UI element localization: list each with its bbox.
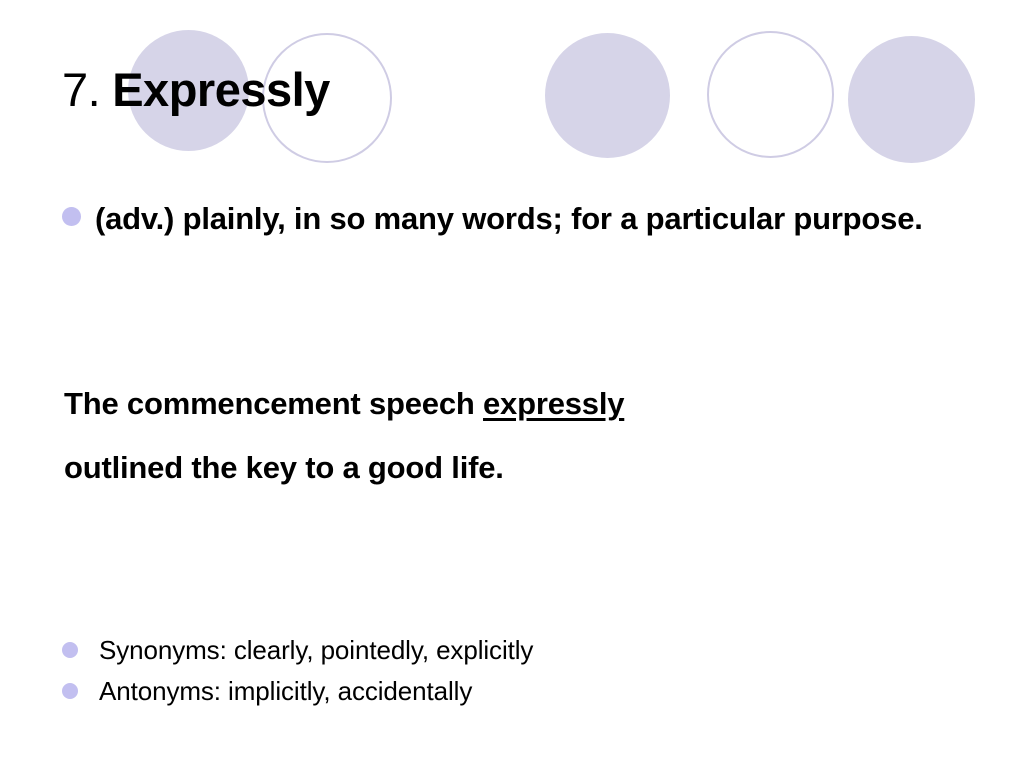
decor-circle-5 <box>848 36 975 163</box>
sentence-trailing-text: outlined the key to a good life. <box>64 450 504 485</box>
definition-bullet-row: (adv.) plainly, in so many words; for a … <box>62 193 942 244</box>
antonyms-row: Antonyms: implicitly, accidentally <box>62 675 942 707</box>
synonyms-row: Synonyms: clearly, pointedly, explicitly <box>62 634 942 666</box>
bullet-dot-icon <box>62 642 78 658</box>
antonyms-text: Antonyms: implicitly, accidentally <box>99 675 472 707</box>
bullet-dot-icon <box>62 207 81 226</box>
sentence-leading-text: The commencement speech <box>64 386 483 421</box>
synonyms-text: Synonyms: clearly, pointedly, explicitly <box>99 634 533 666</box>
page-title: 7.Expressly <box>62 62 330 117</box>
example-sentence-section: The commencement speech expressly outlin… <box>64 372 964 500</box>
decor-circle-4 <box>707 31 834 158</box>
title-number: 7. <box>62 63 100 116</box>
bullet-dot-icon <box>62 683 78 699</box>
example-sentence-line-1: The commencement speech expressly <box>64 372 964 436</box>
definition-text: (adv.) plainly, in so many words; for a … <box>95 193 923 244</box>
decor-circle-3 <box>545 33 670 158</box>
target-word-underlined: expressly <box>483 386 624 421</box>
definition-section: (adv.) plainly, in so many words; for a … <box>62 193 942 244</box>
title-word: Expressly <box>112 63 330 116</box>
relations-section: Synonyms: clearly, pointedly, explicitly… <box>62 634 942 716</box>
vocabulary-slide: 7.Expressly (adv.) plainly, in so many w… <box>0 0 1024 768</box>
example-sentence-line-2: outlined the key to a good life. <box>64 436 964 500</box>
